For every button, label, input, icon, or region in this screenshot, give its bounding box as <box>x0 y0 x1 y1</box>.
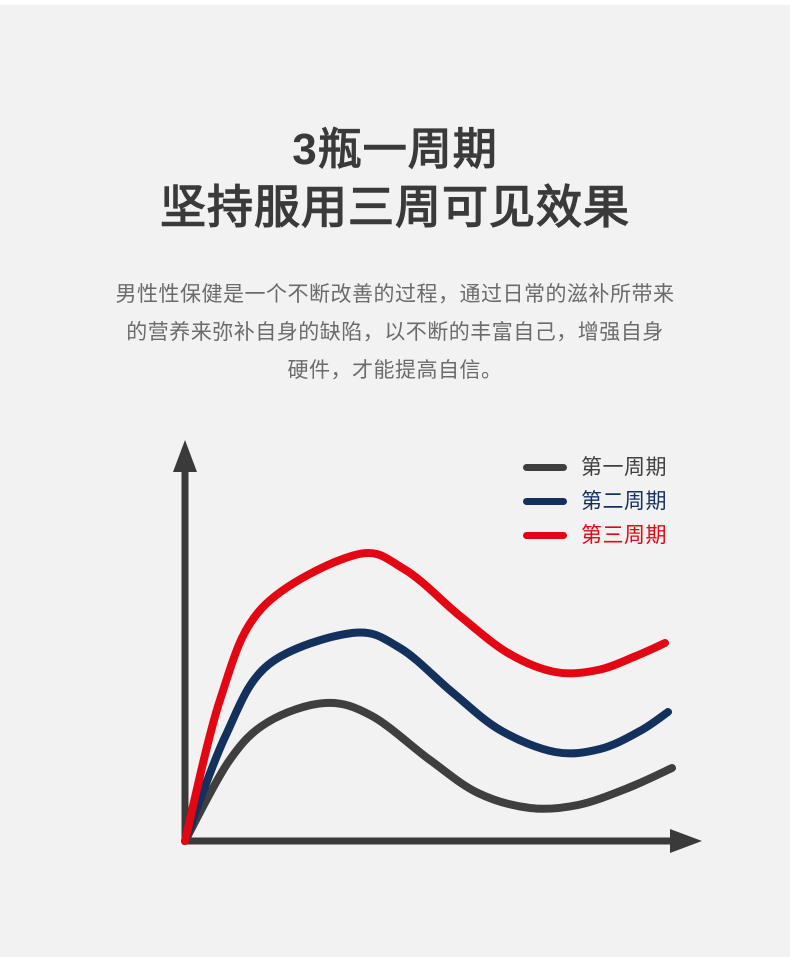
legend-label-first-cycle: 第一周期 <box>581 457 667 478</box>
description-line-1: 男性性保健是一个不断改善的过程，通过日常的滋补所带来 <box>50 276 740 314</box>
headline-line-1: 3瓶一周期 <box>0 122 790 178</box>
promo-page: 3瓶一周期 坚持服用三周可见效果 男性性保健是一个不断改善的过程，通过日常的滋补… <box>0 0 790 957</box>
series-line-first-cycle <box>185 703 672 841</box>
y-axis-arrow-icon <box>173 440 197 472</box>
description-paragraph: 男性性保健是一个不断改善的过程，通过日常的滋补所带来 的营养来弥补自身的缺陷，以… <box>50 276 740 390</box>
legend-swatch-first-cycle <box>523 464 567 471</box>
legend-item-second-cycle: 第二周期 <box>523 484 703 518</box>
legend-swatch-third-cycle <box>523 532 567 539</box>
description-line-3: 硬件，才能提高自信。 <box>50 352 740 390</box>
chart-legend: 第一周期 第二周期 第三周期 <box>523 450 703 552</box>
headline-line-2: 坚持服用三周可见效果 <box>0 178 790 236</box>
legend-item-first-cycle: 第一周期 <box>523 450 703 484</box>
top-white-strip <box>0 0 790 5</box>
legend-item-third-cycle: 第三周期 <box>523 518 703 552</box>
x-axis-arrow-icon <box>670 829 702 853</box>
legend-swatch-second-cycle <box>523 498 567 505</box>
series-line-second-cycle <box>185 632 668 841</box>
legend-label-third-cycle: 第三周期 <box>581 525 667 546</box>
page-title: 3瓶一周期 坚持服用三周可见效果 <box>0 122 790 236</box>
legend-label-second-cycle: 第二周期 <box>581 491 667 512</box>
description-line-2: 的营养来弥补自身的缺陷，以不断的丰富自己，增强自身 <box>50 314 740 352</box>
